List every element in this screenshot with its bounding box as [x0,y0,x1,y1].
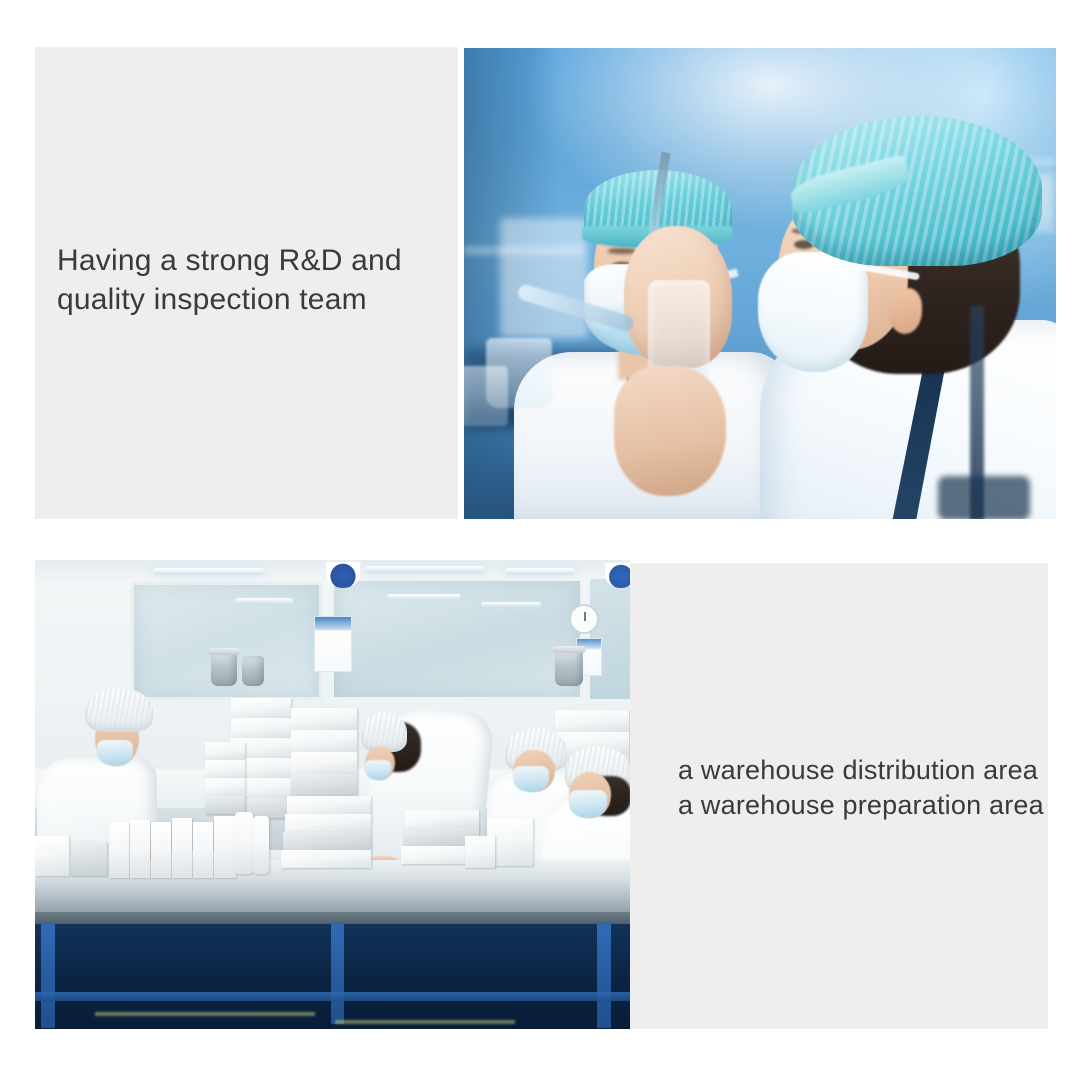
box-stack-tall-3 [205,778,245,796]
lab-hand-lower [614,366,726,496]
table-box-3 [151,822,171,878]
table-bottle-1 [235,812,253,874]
table-box-stack-right-1 [405,810,479,828]
worker-2-mask [365,760,391,780]
box-stack-tall-1 [205,742,245,760]
warehouse-photo [35,560,630,1029]
wall-notice-poster-1 [314,616,352,672]
warehouse-scene [35,560,630,1029]
worker-1-hairnet [85,688,153,732]
table-box-5 [193,822,213,878]
table-box-stack-center-4 [281,850,371,868]
box-stack-mid-3 [291,752,357,774]
top-section: Having a strong R&D and quality inspecti… [35,47,1056,519]
inner-room-light-3 [481,602,541,607]
table-box-stack-center-2 [285,814,371,832]
ceiling-light-3 [505,568,575,575]
bottom-caption-line-1: a warehouse distribution area [678,753,1080,788]
bottom-caption-panel: a warehouse distribution area a warehous… [630,563,1048,1029]
lab-worker-left-brow-1 [608,248,636,254]
box-stack-mid-1 [291,708,357,730]
box-stack-mid-4 [291,774,357,796]
lab-stand-base [938,476,1030,519]
lab-inspection-photo [464,48,1056,519]
table-box-6 [214,816,236,878]
table-leg-right [597,924,611,1028]
table-box-far-right-2 [465,836,495,868]
table-cross-rail [35,992,630,1001]
lab-worker-right-mask [758,252,868,372]
worker-1-mask [97,740,133,766]
lab-worker-right [712,70,1056,519]
lab-worker-right-ear [888,288,922,334]
lab-beaker-icon-2 [464,366,508,426]
lab-scene [464,48,1056,519]
bottom-caption: a warehouse distribution area a warehous… [678,753,1080,823]
box-stack-mid-2 [291,730,357,752]
floor-marking-line-1 [95,1012,315,1016]
worker-4-mask [569,790,607,818]
bottom-section: a warehouse distribution area a warehous… [35,560,1048,1029]
top-caption-line-2: quality inspection team [57,280,447,319]
top-caption: Having a strong R&D and quality inspecti… [57,241,447,319]
box-stack-tall-2 [205,760,245,778]
steel-pot-1-lid [208,648,240,655]
inner-room-light-1 [235,598,293,604]
inner-room-light-2 [387,594,461,600]
ceiling-light-1 [153,568,265,575]
bottom-caption-line-2: a warehouse preparation area [678,788,1080,823]
table-box-2 [130,820,150,878]
floor-marking-line-2 [335,1020,515,1024]
steel-pot-3 [555,650,583,686]
top-caption-panel: Having a strong R&D and quality inspecti… [35,47,458,519]
table-box-1 [109,822,129,878]
wall-clock-icon [569,604,599,634]
steel-pot-3-lid [552,646,586,653]
worker-3-mask [513,766,549,792]
steel-pot-2 [242,656,264,686]
box-stack-right-1 [555,710,629,732]
top-caption-line-1: Having a strong R&D and [57,241,447,280]
table-box-stack-center-1 [287,796,371,814]
table-leg-mid [331,924,344,1024]
box-stack-back-1 [231,698,291,718]
promo-collage-page: Having a strong R&D and quality inspecti… [0,0,1080,1080]
table-leg-left [41,924,55,1028]
box-stack-back-2 [231,718,291,738]
ceiling-light-2 [365,566,485,573]
table-box-8 [35,836,69,876]
steel-pot-1 [211,652,237,686]
table-box-7 [71,842,107,876]
table-box-stack-center-3 [283,832,371,850]
table-bottle-2 [253,816,269,874]
wall-logo-icon-1 [326,562,360,588]
table-box-4 [172,818,192,878]
wall-logo-icon-2 [605,563,630,588]
